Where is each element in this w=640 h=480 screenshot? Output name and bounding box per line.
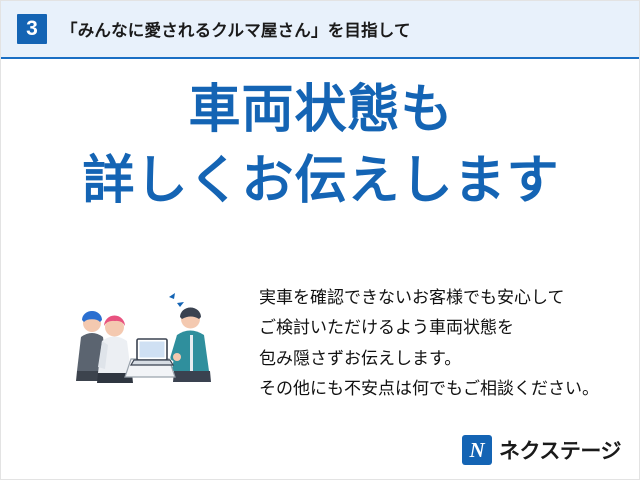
headline: 車両状態も 詳しくお伝えします <box>1 79 640 214</box>
headline-line-1: 車両状態も <box>1 79 640 142</box>
logo-mark-letter: N <box>462 435 492 465</box>
headline-line-2: 詳しくお伝えします <box>1 150 640 213</box>
body-copy-line: 実車を確認できないお客様でも安心して <box>259 283 619 313</box>
step-number-badge: 3 <box>17 14 47 44</box>
nextage-n-icon: N <box>462 435 492 465</box>
laptop-on-desk-icon <box>125 339 175 377</box>
body-copy: 実車を確認できないお客様でも安心して ご検討いただけるよう車両状態を 包み隠さず… <box>259 283 619 404</box>
staff-and-customers-illustration <box>57 279 247 389</box>
body-copy-line: 包み隠さずお伝えします。 <box>259 344 619 374</box>
brand-name: ネクステージ <box>499 435 621 465</box>
body-copy-line: ご検討いただけるよう車両状態を <box>259 313 619 343</box>
header-title: 「みんなに愛されるクルマ屋さん」を目指して <box>61 17 411 41</box>
body-copy-line: その他にも不安点は何でもご相談ください。 <box>259 374 619 404</box>
promo-slide: 3 「みんなに愛されるクルマ屋さん」を目指して 車両状態も 詳しくお伝えします <box>0 0 640 480</box>
speech-spark-icon <box>169 293 184 307</box>
staff-figure <box>170 308 211 383</box>
header-bar: 3 「みんなに愛されるクルマ屋さん」を目指して <box>1 1 640 59</box>
brand-logo: N ネクステージ <box>462 435 621 465</box>
